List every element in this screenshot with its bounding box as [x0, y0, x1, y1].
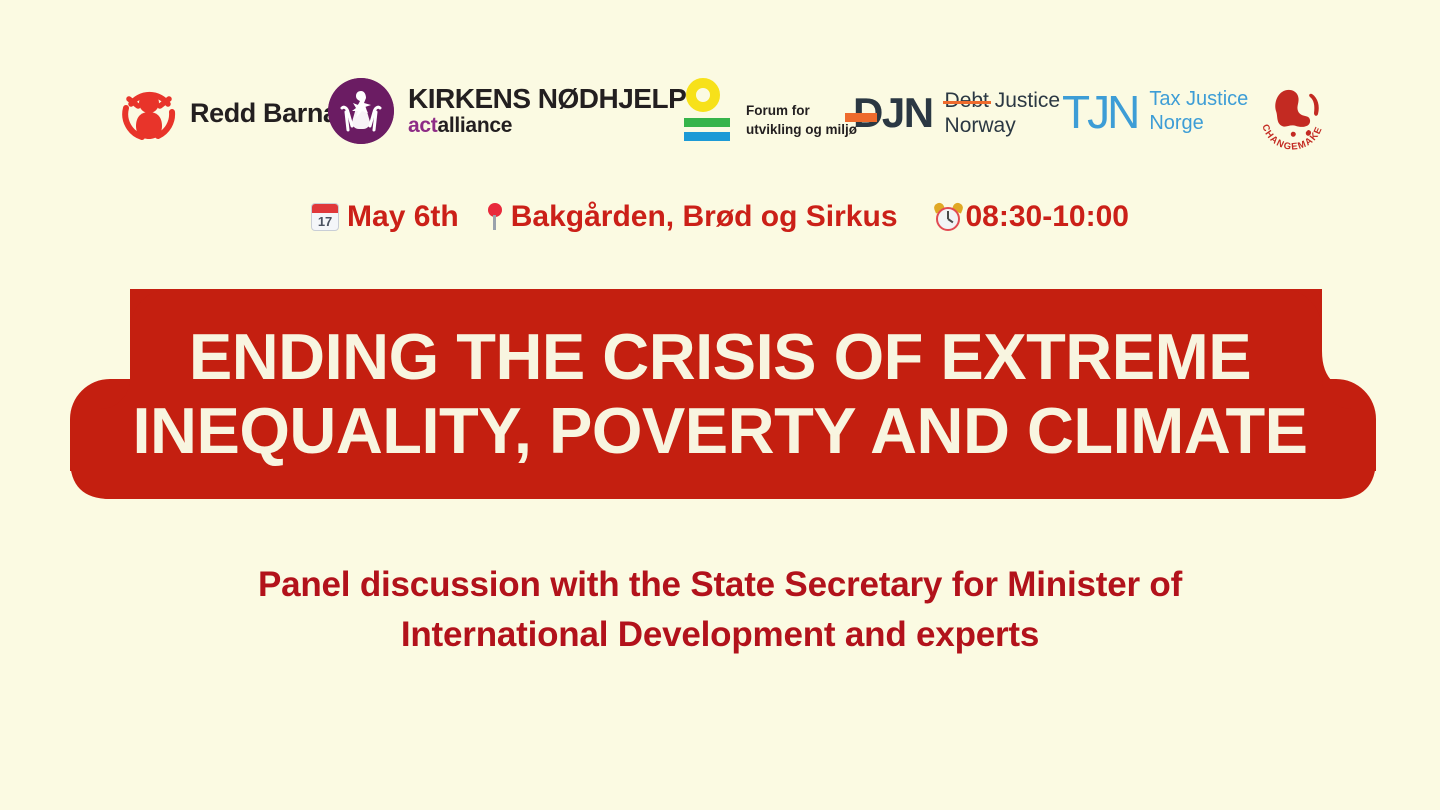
act-text: act [408, 114, 437, 137]
alarm-clock-icon [934, 203, 963, 232]
logo-debt-justice-norway: DJN Debt Justice Norway [845, 88, 1060, 138]
banner-shape [0, 289, 1440, 499]
djn-struck-word: Debt [945, 88, 989, 113]
event-date-label: May 6th [347, 200, 459, 234]
logo-tax-justice-norge: TJN Tax Justice Norge [1062, 88, 1248, 135]
partner-logo-strip: Redd Barna KIRKENS NØDHJELP actalliance [0, 70, 1440, 165]
redd-barna-wordmark: Redd Barna [190, 98, 338, 129]
subtitle-line-2: International Development and experts [0, 610, 1440, 660]
tjn-line-2: Norge [1149, 112, 1248, 136]
title-banner: ENDING THE CRISIS OF EXTREME INEQUALITY,… [0, 289, 1440, 499]
logo-kirkens-nodhjelp: KIRKENS NØDHJELP actalliance [328, 78, 686, 144]
djn-orange-dash-icon [845, 113, 877, 122]
djn-monogram: DJN [845, 89, 933, 137]
logo-changemaker: CHANGEMAKER [1252, 78, 1334, 160]
kirkens-nodhjelp-wordmark: KIRKENS NØDHJELP [408, 85, 686, 114]
forum-line-2: utvikling og miljø [746, 121, 857, 139]
forum-green-bar [684, 118, 730, 127]
forum-symbol-icon [684, 78, 736, 141]
tjn-line-1: Tax Justice [1149, 88, 1248, 112]
forum-yellow-ring [686, 78, 720, 112]
calendar-icon: 17 [311, 203, 339, 231]
map-pin-icon [485, 203, 505, 231]
event-time: 08:30-10:00 [934, 200, 1129, 234]
subtitle-line-1: Panel discussion with the State Secretar… [0, 560, 1440, 610]
alliance-text: alliance [437, 114, 512, 137]
event-location-label: Bakgården, Brød og Sirkus [511, 200, 898, 234]
dove-in-hands-icon [328, 78, 394, 144]
djn-line-2: Norway [945, 113, 1061, 138]
tjn-monogram: TJN [1062, 89, 1137, 135]
event-date: 17 May 6th [311, 200, 459, 234]
subtitle-block: Panel discussion with the State Secretar… [0, 560, 1440, 659]
event-time-label: 08:30-10:00 [966, 200, 1129, 234]
calendar-day-number: 17 [312, 212, 338, 231]
changemaker-globe-icon: CHANGEMAKER [1252, 78, 1334, 160]
tjn-wordmark: Tax Justice Norge [1149, 88, 1248, 135]
forum-blue-bar [684, 132, 730, 141]
redd-barna-child-icon [118, 82, 180, 144]
djn-justice-word: Justice [995, 89, 1060, 112]
event-location: Bakgården, Brød og Sirkus [485, 200, 898, 234]
act-alliance-wordmark: actalliance [408, 114, 686, 137]
logo-redd-barna: Redd Barna [118, 82, 338, 144]
djn-wordmark: Debt Justice Norway [945, 88, 1061, 138]
djn-line-1: Debt Justice [945, 88, 1061, 113]
event-meta-row: 17 May 6th Bakgården, Brød og Sirkus 08:… [0, 200, 1440, 234]
logo-forum-utvikling-miljo: Forum for utvikling og miljø [684, 78, 857, 141]
forum-line-1: Forum for [746, 102, 857, 120]
forum-wordmark: Forum for utvikling og miljø [746, 102, 857, 138]
